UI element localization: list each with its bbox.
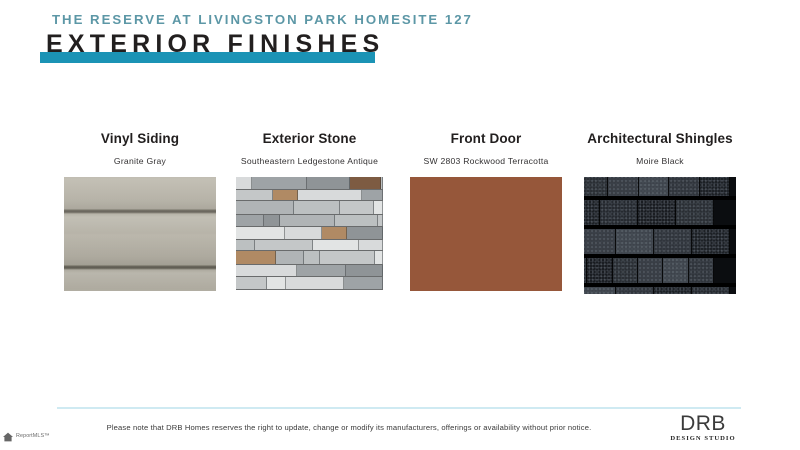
slide-header: THE RESERVE AT LIVINGSTON PARK HOMESITE …	[0, 0, 800, 90]
stone-course	[236, 227, 383, 240]
stone-piece	[267, 277, 286, 289]
stone-piece	[252, 177, 307, 189]
finish-card-architectural-shingles: Architectural Shingles Moire Black	[584, 130, 736, 294]
finish-card-exterior-stone: Exterior Stone Southeastern Ledgestone A…	[236, 130, 383, 290]
stone-course	[236, 190, 383, 201]
stone-piece	[344, 277, 383, 289]
shingle-tab	[608, 177, 638, 196]
finish-title: Architectural Shingles	[584, 130, 736, 147]
finish-title: Front Door	[410, 130, 562, 147]
mls-house-icon	[2, 430, 14, 442]
swatch-front-door	[410, 177, 562, 291]
finish-spec: SW 2803 Rockwood Terracotta	[410, 155, 562, 168]
shingle-tab	[584, 287, 616, 294]
stone-piece	[335, 215, 378, 226]
shingle-tab	[584, 177, 608, 196]
stone-piece	[320, 251, 375, 264]
shingle-tab	[584, 229, 616, 254]
stone-piece	[304, 251, 320, 264]
stone-piece	[280, 215, 335, 226]
swatch-exterior-stone	[236, 177, 383, 290]
shingle-tab	[692, 287, 730, 294]
finish-title: Vinyl Siding	[64, 130, 216, 147]
stone-course	[236, 265, 383, 277]
stone-course	[236, 240, 383, 251]
stone-piece	[294, 201, 340, 214]
finish-spec: Granite Gray	[64, 155, 216, 168]
stone-piece	[346, 265, 383, 276]
shingle-tab	[654, 229, 692, 254]
page-title-block: EXTERIOR FINISHES	[40, 30, 460, 66]
disclaimer-text: Please note that DRB Homes reserves the …	[57, 422, 641, 433]
shingle-course	[584, 200, 714, 225]
stone-piece	[340, 201, 374, 214]
stone-piece	[236, 227, 285, 239]
stone-piece	[374, 201, 383, 214]
shingle-tab	[700, 177, 730, 196]
stone-piece	[313, 240, 359, 250]
drb-design-studio-logo: DRB DESIGN STUDIO	[666, 413, 740, 442]
shingle-tab	[639, 177, 669, 196]
swatch-architectural-shingles	[584, 177, 736, 294]
shingle-tab	[669, 177, 699, 196]
shingle-course	[584, 177, 730, 196]
shingle-tab	[616, 287, 654, 294]
stone-piece	[236, 201, 294, 214]
stone-piece	[236, 240, 255, 250]
community-homesite-kicker: THE RESERVE AT LIVINGSTON PARK HOMESITE …	[52, 12, 473, 27]
stone-piece	[255, 240, 313, 250]
stone-piece	[285, 227, 322, 239]
stone-course	[236, 251, 383, 265]
stone-piece	[276, 251, 304, 264]
shingle-course	[584, 258, 714, 283]
finish-spec: Southeastern Ledgestone Antique	[236, 155, 383, 168]
shingle-tab	[654, 287, 692, 294]
finish-card-vinyl-siding: Vinyl Siding Granite Gray	[64, 130, 216, 291]
stone-course	[236, 201, 383, 215]
stone-piece	[298, 190, 362, 200]
stone-course	[236, 177, 383, 190]
shingle-tab	[613, 258, 638, 283]
finish-board-slide: THE RESERVE AT LIVINGSTON PARK HOMESITE …	[0, 0, 800, 450]
shingle-course	[584, 229, 730, 254]
shingle-tab	[663, 258, 688, 283]
stone-piece	[236, 251, 276, 264]
stone-piece	[381, 177, 383, 189]
stone-piece	[359, 240, 383, 250]
shingle-tab	[676, 200, 714, 225]
stone-course	[236, 215, 383, 227]
mls-watermark: ReportMLS™	[2, 428, 50, 444]
finish-swatch-grid: Vinyl Siding Granite Gray Exterior Stone…	[0, 130, 800, 320]
shingle-tab	[638, 258, 663, 283]
stone-piece	[236, 190, 273, 200]
shingle-tab	[638, 200, 676, 225]
footer-divider	[57, 407, 741, 409]
finish-card-front-door: Front Door SW 2803 Rockwood Terracotta	[410, 130, 562, 291]
stone-piece	[273, 190, 298, 200]
stone-piece	[350, 177, 381, 189]
stone-course	[236, 277, 383, 290]
stone-piece	[236, 215, 264, 226]
stone-piece	[236, 265, 297, 276]
stone-piece	[286, 277, 344, 289]
stone-piece	[307, 177, 350, 189]
shingle-tab	[600, 200, 638, 225]
drb-wordmark: DRB	[666, 413, 740, 434]
shingle-tab	[689, 258, 714, 283]
drb-tagline: DESIGN STUDIO	[666, 435, 740, 442]
slide-footer: Please note that DRB Homes reserves the …	[0, 395, 800, 450]
stone-piece	[264, 215, 280, 226]
shingle-tab	[692, 229, 730, 254]
stone-piece	[236, 277, 267, 289]
finish-title: Exterior Stone	[236, 130, 383, 147]
stone-piece	[347, 227, 383, 239]
finish-spec: Moire Black	[584, 155, 736, 168]
shingle-course	[584, 287, 730, 294]
stone-piece	[322, 227, 347, 239]
shingle-tab	[616, 229, 654, 254]
page-title: EXTERIOR FINISHES	[46, 30, 384, 59]
stone-piece	[362, 190, 383, 200]
stone-piece	[297, 265, 346, 276]
shingle-tab	[584, 200, 600, 225]
mls-watermark-text: ReportMLS™	[16, 433, 50, 439]
swatch-vinyl-siding	[64, 177, 216, 291]
stone-piece	[236, 177, 252, 189]
stone-piece	[375, 251, 383, 264]
shingle-tab	[587, 258, 612, 283]
stone-piece	[378, 215, 383, 226]
